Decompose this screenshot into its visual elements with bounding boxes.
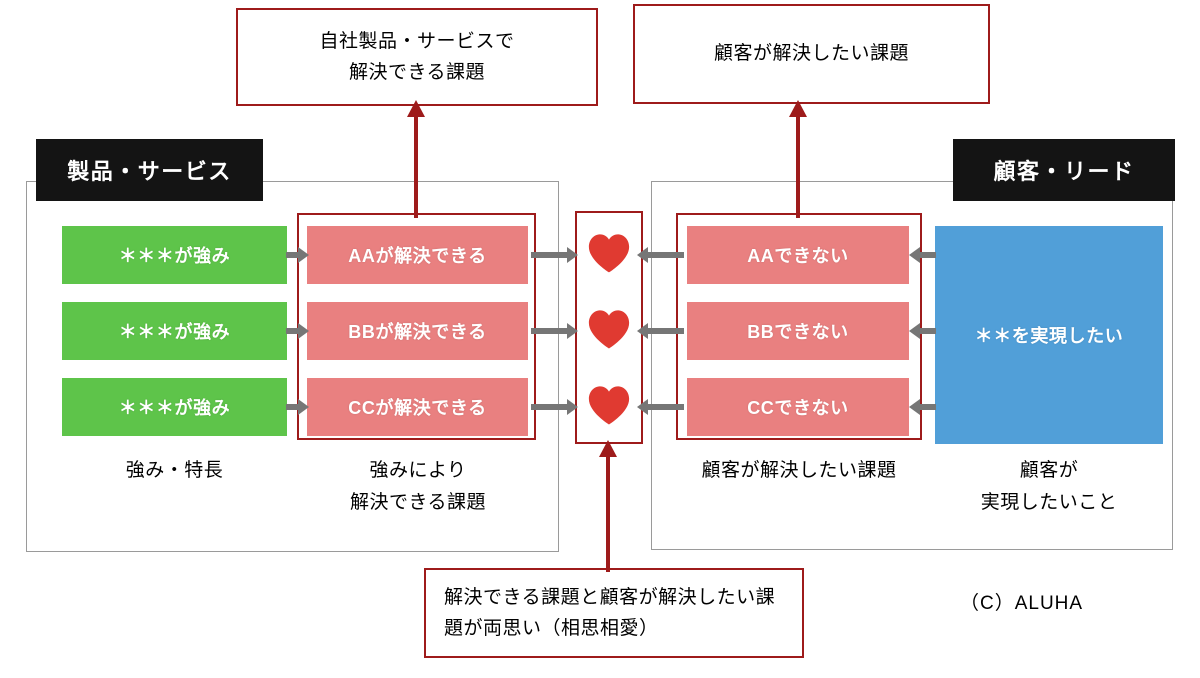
caption-goal-line1: 顧客が xyxy=(935,455,1163,487)
callout-mutual-love-line2: 題が両思い（相思相愛） xyxy=(444,613,659,644)
arrow-solution-to-callout-up xyxy=(404,100,428,218)
caption-strength-label: 強み・特長 xyxy=(62,455,287,487)
problem-box-2-label: BBできない xyxy=(747,318,849,344)
problem-box-2[interactable]: BBできない xyxy=(687,302,909,360)
callout-product-solvable-line2: 解決できる課題 xyxy=(349,57,485,88)
arrow-solution-to-heart-3 xyxy=(531,397,579,417)
strength-box-2-label: ＊＊＊が強み xyxy=(119,318,231,344)
copyright-label: （C）ALUHA xyxy=(960,593,1083,614)
tag-customer-lead: 顧客・リード xyxy=(953,139,1175,201)
problem-box-3-label: CCできない xyxy=(747,394,849,420)
callout-mutual-love-line1: 解決できる課題と顧客が解決したい課 xyxy=(444,582,775,613)
strength-box-1-label: ＊＊＊が強み xyxy=(119,242,231,268)
caption-problems: 顧客が解決したい課題 xyxy=(676,455,922,487)
heart-icon-2 xyxy=(586,308,632,350)
problem-box-3[interactable]: CCできない xyxy=(687,378,909,436)
problem-box-1-label: AAできない xyxy=(747,242,849,268)
callout-customer-issue: 顧客が解決したい課題 xyxy=(633,4,990,104)
arrow-solution-to-heart-2 xyxy=(531,321,579,341)
caption-goal-line2: 実現したいこと xyxy=(935,487,1163,519)
caption-goal: 顧客が 実現したいこと xyxy=(935,455,1163,520)
caption-solution-line2: 解決できる課題 xyxy=(300,487,536,519)
strength-box-1[interactable]: ＊＊＊が強み xyxy=(62,226,287,284)
heart-icon-3 xyxy=(586,384,632,426)
solution-box-2-label: BBが解決できる xyxy=(348,318,486,344)
caption-problems-label: 顧客が解決したい課題 xyxy=(676,455,922,487)
strength-box-2[interactable]: ＊＊＊が強み xyxy=(62,302,287,360)
heart-icon-1 xyxy=(586,232,632,274)
solution-box-3[interactable]: CCが解決できる xyxy=(307,378,528,436)
solution-box-2[interactable]: BBが解決できる xyxy=(307,302,528,360)
arrow-goal-to-problem-3 xyxy=(909,397,937,417)
arrow-problem-to-heart-2 xyxy=(637,321,685,341)
tag-customer-lead-label: 顧客・リード xyxy=(993,154,1134,186)
strength-box-3-label: ＊＊＊が強み xyxy=(119,394,231,420)
arrow-solution-to-heart-1 xyxy=(531,245,579,265)
callout-product-solvable-line1: 自社製品・サービスで xyxy=(319,26,514,57)
callout-customer-issue-line1: 顧客が解決したい課題 xyxy=(714,38,909,69)
solution-box-3-label: CCが解決できる xyxy=(348,394,486,420)
solution-box-1-label: AAが解決できる xyxy=(348,242,486,268)
caption-solution: 強みにより 解決できる課題 xyxy=(300,455,536,520)
strength-box-3[interactable]: ＊＊＊が強み xyxy=(62,378,287,436)
tag-product-service: 製品・サービス xyxy=(36,139,263,201)
arrow-goal-to-problem-2 xyxy=(909,321,937,341)
customer-goal-label: ＊＊を実現したい xyxy=(975,322,1124,348)
arrow-goal-to-problem-1 xyxy=(909,245,937,265)
arrow-problem-to-heart-3 xyxy=(637,397,685,417)
callout-product-solvable: 自社製品・サービスで 解決できる課題 xyxy=(236,8,598,106)
caption-strength: 強み・特長 xyxy=(62,455,287,487)
customer-goal-box[interactable]: ＊＊を実現したい xyxy=(935,226,1163,444)
arrow-strength-to-solution-2 xyxy=(286,321,310,341)
tag-product-service-label: 製品・サービス xyxy=(67,154,232,186)
arrow-problem-to-callout-up xyxy=(786,100,810,218)
arrow-strength-to-solution-1 xyxy=(286,245,310,265)
arrow-strength-to-solution-3 xyxy=(286,397,310,417)
arrow-heart-to-callout-up xyxy=(596,440,620,572)
callout-mutual-love: 解決できる課題と顧客が解決したい課 題が両思い（相思相愛） xyxy=(424,568,804,658)
diagram-canvas: 自社製品・サービスで 解決できる課題 顧客が解決したい課題 製品・サービス 顧客… xyxy=(0,0,1200,678)
caption-solution-line1: 強みにより xyxy=(300,455,536,487)
arrow-problem-to-heart-1 xyxy=(637,245,685,265)
solution-box-1[interactable]: AAが解決できる xyxy=(307,226,528,284)
problem-box-1[interactable]: AAできない xyxy=(687,226,909,284)
copyright-notice: （C）ALUHA xyxy=(960,588,1083,615)
